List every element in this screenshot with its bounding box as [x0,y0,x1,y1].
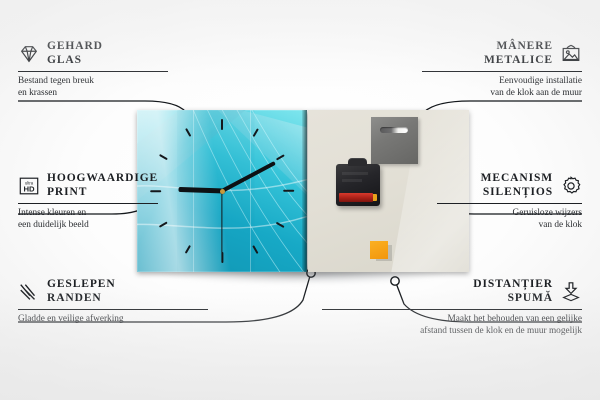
callout-mecanism-silentios: MECANISM SILENȚIOS Geruisloze wijzers va… [437,172,582,231]
callout-title: DISTANȚIER SPUMĂ [473,278,553,305]
mechanism-detail [342,179,362,182]
callout-geslepen-randen: GESLEPEN RANDEN Gladde en veilige afwerk… [18,278,208,326]
callout-subtitle: Maakt het behouden van een gelijke afsta… [322,314,582,337]
clock-pivot [220,189,225,194]
product-image [137,110,469,272]
callout-title: MECANISM SILENȚIOS [481,172,553,199]
clock-mechanism [336,164,380,206]
hanger-slot [380,127,408,133]
callout-rule [437,203,582,204]
callout-subtitle: Bestand tegen breuk en krassen [18,76,168,99]
callout-title: HOOGWAARDIGE PRINT [47,172,158,199]
callout-rule [18,71,168,72]
callout-subtitle: Eenvoudige installatie van de klok aan d… [422,76,582,99]
callout-subtitle: Geruisloze wijzers van de klok [437,208,582,231]
mechanism-tab [348,158,367,166]
panel-seam [250,110,251,272]
callout-title: MÂNERE METALICE [484,40,553,67]
metal-hanger [371,117,418,164]
gear-icon [560,175,582,197]
callout-hoogwaardige-print: ultra HD HOOGWAARDIGE PRINT Intense kleu… [18,172,158,231]
callout-rule [322,309,582,310]
picture-hanger-icon [560,43,582,65]
foam-spacer [370,241,388,259]
callout-title: GEHARD GLAS [47,40,103,67]
callout-rule [18,203,158,204]
diamond-icon [18,43,40,65]
ultra-hd-icon: ultra HD [18,175,40,197]
callout-rule [422,71,582,72]
callout-manere-metalice: MÂNERE METALICE Eenvoudige installatie v… [422,40,582,99]
diagonal-lines-icon [18,281,40,303]
infographic-canvas: GEHARD GLAS Bestand tegen breuk en krass… [0,0,600,400]
clock-front-panel [137,110,307,272]
callout-gehard-glas: GEHARD GLAS Bestand tegen breuk en krass… [18,40,168,99]
spacer-arrow-icon [560,281,582,303]
glass-edge [302,110,307,272]
callout-title: GESLEPEN RANDEN [47,278,116,305]
mechanism-detail [342,172,368,175]
callout-subtitle: Intense kleuren en een duidelijk beeld [18,208,158,231]
callout-distantier-spuma: DISTANȚIER SPUMĂ Maakt het behouden van … [322,278,582,337]
callout-subtitle: Gladde en veilige afwerking [18,314,208,325]
callout-rule [18,309,208,310]
battery [339,193,373,202]
svg-text:HD: HD [23,184,35,193]
